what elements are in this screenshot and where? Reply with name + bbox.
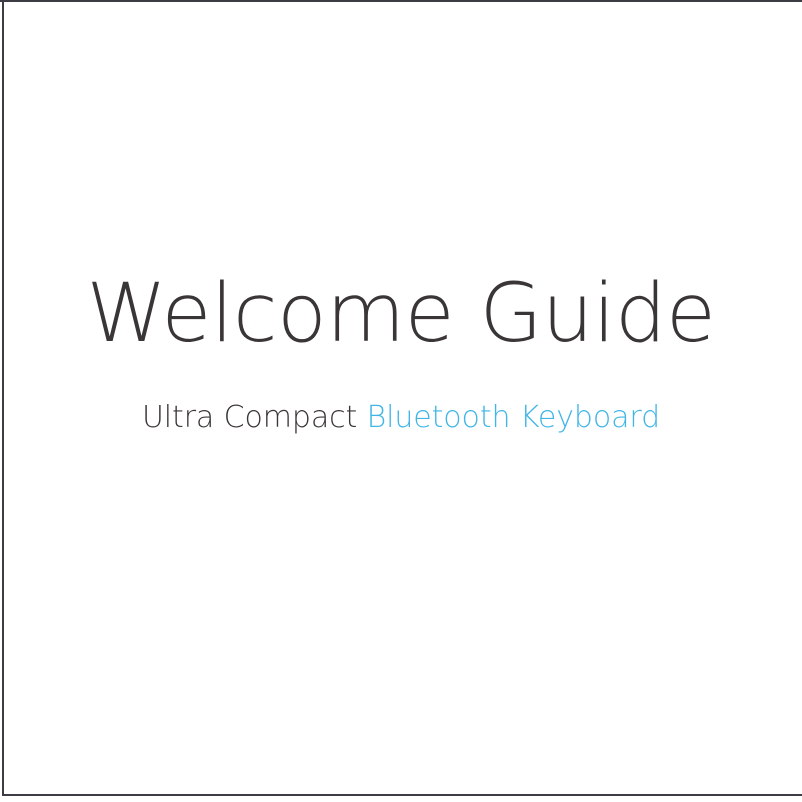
subtitle-highlight-text: Bluetooth Keyboard — [367, 400, 660, 435]
page-subtitle: Ultra Compact Bluetooth Keyboard — [0, 400, 802, 436]
document-page: Welcome Guide Ultra Compact Bluetooth Ke… — [0, 0, 802, 802]
cover-blank-space — [4, 460, 800, 794]
cover-content: Welcome Guide Ultra Compact Bluetooth Ke… — [0, 0, 802, 802]
page-title: Welcome Guide — [0, 274, 802, 355]
subtitle-lead-text: Ultra Compact — [142, 400, 367, 435]
